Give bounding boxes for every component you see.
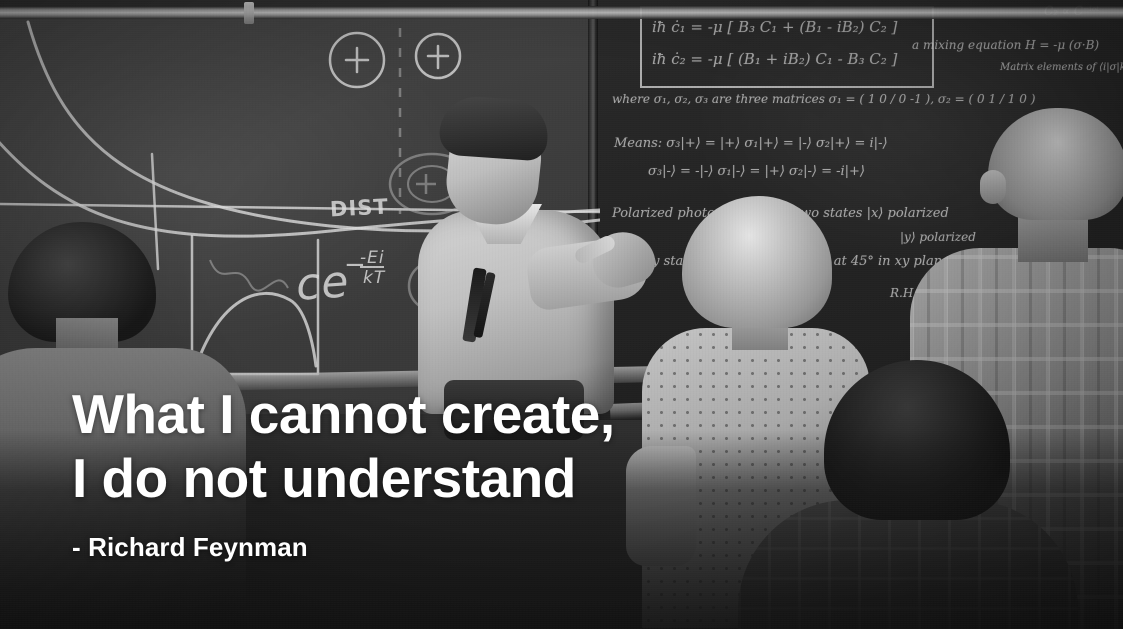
- quote-line-2: I do not understand: [72, 446, 615, 510]
- quote-line-1: What I cannot create,: [72, 382, 615, 446]
- quote-attribution: - Richard Feynman: [72, 532, 615, 562]
- quote-image: DIST ce − -Ei kT iħ ċ₁ = -μ [ B₃ C₁ + (B…: [0, 0, 1123, 629]
- quote-block: What I cannot create, I do not understan…: [72, 382, 615, 562]
